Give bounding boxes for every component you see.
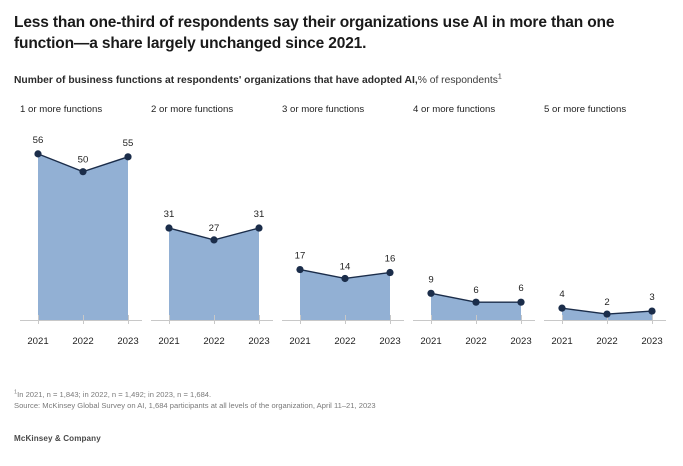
data-point-label: 3: [649, 292, 654, 303]
chart-panel-3: 3 or more functions171416202120222023: [276, 104, 407, 352]
data-point-marker: [517, 298, 524, 305]
data-point-marker: [386, 269, 393, 276]
data-point-marker: [255, 224, 262, 231]
subtitle-footnote-marker: 1: [498, 74, 502, 81]
chart-panel-1: 1 or more functions565055202120222023: [14, 104, 145, 352]
x-axis-label-2023: 2023: [248, 336, 269, 347]
chart-panel-5: 5 or more functions423202120222023: [538, 104, 669, 352]
x-axis-labels: 202120222023: [145, 336, 276, 352]
data-point-marker: [427, 289, 434, 296]
data-point-marker: [558, 304, 565, 311]
data-point-label: 14: [340, 261, 351, 272]
mckinsey-logo: McKinsey & Company: [14, 434, 101, 443]
panel-plot: 423: [538, 126, 669, 352]
data-point-marker: [124, 153, 131, 160]
data-point-marker: [472, 298, 479, 305]
x-axis-label-2021: 2021: [27, 336, 48, 347]
panel-title: 1 or more functions: [20, 104, 102, 115]
data-point-label: 31: [254, 209, 265, 220]
panel-title: 4 or more functions: [413, 104, 495, 115]
x-axis-label-2021: 2021: [420, 336, 441, 347]
x-axis-label-2022: 2022: [203, 336, 224, 347]
data-point-marker: [648, 307, 655, 314]
source-line: Source: McKinsey Global Survey on AI, 1,…: [14, 401, 376, 412]
subtitle-strong: Number of business functions at responde…: [14, 75, 418, 86]
data-point-label: 31: [164, 209, 175, 220]
page-title: Less than one-third of respondents say t…: [14, 0, 664, 54]
subtitle-light: % of respondents: [418, 75, 498, 86]
x-axis-labels: 202120222023: [407, 336, 538, 352]
chart-page: Less than one-third of respondents say t…: [0, 0, 683, 466]
data-point-label: 56: [33, 134, 44, 145]
data-point-label: 4: [559, 289, 565, 300]
data-point-label: 6: [473, 285, 478, 296]
x-axis-label-2021: 2021: [158, 336, 179, 347]
x-axis-label-2022: 2022: [72, 336, 93, 347]
x-axis-label-2023: 2023: [641, 336, 662, 347]
data-point-label: 17: [295, 250, 306, 261]
data-point-label: 50: [78, 154, 89, 165]
panel-plot: 966: [407, 126, 538, 352]
data-point-label: 55: [123, 137, 134, 148]
x-axis-label-2022: 2022: [334, 336, 355, 347]
data-point-marker: [79, 168, 86, 175]
data-point-label: 9: [428, 274, 433, 285]
data-point-label: 2: [604, 297, 609, 308]
data-point-label: 27: [209, 222, 220, 233]
x-axis-label-2022: 2022: [596, 336, 617, 347]
x-axis-labels: 202120222023: [538, 336, 669, 352]
x-axis-label-2023: 2023: [510, 336, 531, 347]
panel-title: 3 or more functions: [282, 104, 364, 115]
chart-panel-4: 4 or more functions966202120222023: [407, 104, 538, 352]
data-point-marker: [296, 266, 303, 273]
data-point-marker: [341, 274, 348, 281]
x-axis-labels: 202120222023: [14, 336, 145, 352]
x-axis-label-2021: 2021: [289, 336, 310, 347]
data-point-label: 6: [518, 283, 523, 294]
data-point-marker: [210, 236, 217, 243]
data-point-label: 16: [385, 253, 396, 264]
x-axis-labels: 202120222023: [276, 336, 407, 352]
panel-title: 5 or more functions: [544, 104, 626, 115]
x-axis-label-2023: 2023: [117, 336, 138, 347]
panel-plot: 565055: [14, 126, 145, 352]
data-point-marker: [165, 224, 172, 231]
panel-plot: 171416: [276, 126, 407, 352]
x-axis-label-2023: 2023: [379, 336, 400, 347]
data-point-marker: [603, 310, 610, 317]
panel-title: 2 or more functions: [151, 104, 233, 115]
chart-subtitle: Number of business functions at responde…: [14, 54, 669, 87]
footnotes: 1In 2021, n = 1,843; in 2022, n = 1,492;…: [14, 390, 376, 412]
chart-panels: 1 or more functions5650552021202220232 o…: [14, 104, 669, 352]
footnote-sample-sizes: 1In 2021, n = 1,843; in 2022, n = 1,492;…: [14, 390, 376, 401]
panel-plot: 312731: [145, 126, 276, 352]
footnote-text: In 2021, n = 1,843; in 2022, n = 1,492; …: [17, 390, 211, 399]
chart-panel-2: 2 or more functions312731202120222023: [145, 104, 276, 352]
data-point-marker: [34, 150, 41, 157]
x-axis-label-2021: 2021: [551, 336, 572, 347]
x-axis-label-2022: 2022: [465, 336, 486, 347]
area-fill: [38, 153, 128, 319]
